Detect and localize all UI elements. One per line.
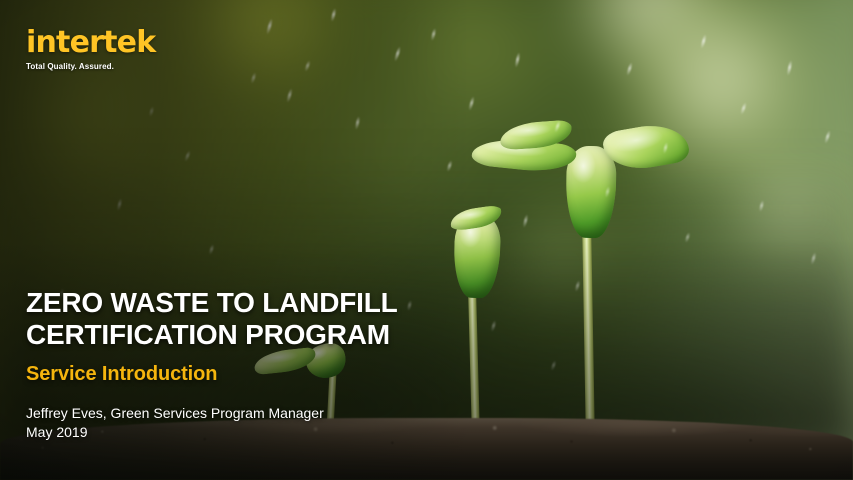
intertek-logo[interactable]: intertek Total Quality. Assured.: [26, 28, 155, 71]
page-title-line-2: CERTIFICATION PROGRAM: [26, 319, 546, 351]
presenter-byline: Jeffrey Eves, Green Services Program Man…: [26, 404, 546, 442]
page-subtitle: Service Introduction: [26, 363, 546, 385]
page-title: ZERO WASTE TO LANDFILL CERTIFICATION PRO…: [26, 287, 546, 350]
logo-wordmark: intertek: [26, 28, 155, 58]
logo-tagline: Total Quality. Assured.: [26, 63, 155, 71]
page-title-line-1: ZERO WASTE TO LANDFILL: [26, 287, 546, 319]
title-block: ZERO WASTE TO LANDFILL CERTIFICATION PRO…: [26, 287, 546, 442]
title-slide: intertek Total Quality. Assured. ZERO WA…: [0, 0, 853, 480]
presentation-date: May 2019: [26, 423, 546, 442]
presenter-name: Jeffrey Eves, Green Services Program Man…: [26, 404, 546, 423]
